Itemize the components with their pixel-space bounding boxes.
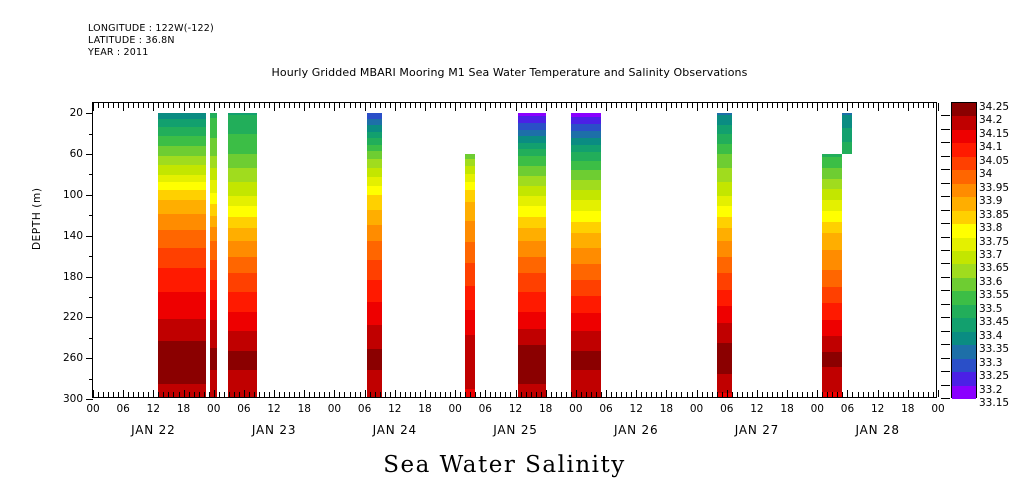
x-minor-tick [133, 392, 134, 397]
y-minor-tick [89, 256, 94, 257]
x-tick-label: 18 [177, 403, 190, 415]
colorbar-tick-label: 33.95 [979, 182, 1009, 194]
x-tick-label: 18 [660, 403, 673, 415]
x-tick-top [616, 103, 617, 108]
x-tick-top [370, 103, 371, 108]
x-minor-tick [928, 392, 929, 397]
x-tick-top [586, 103, 587, 108]
x-tick-top [883, 103, 884, 108]
x-tick-top [405, 103, 406, 108]
x-minor-tick [832, 392, 833, 397]
y-tick [86, 113, 93, 114]
colorbar-band [952, 251, 976, 265]
y-tick [86, 277, 93, 278]
x-tick-label: 06 [237, 403, 250, 415]
x-tick-top [269, 103, 270, 108]
col-jan24-a [367, 113, 382, 397]
x-tick-top [737, 103, 738, 108]
colorbar-tick-label: 33.85 [979, 209, 1009, 221]
x-tick-top [516, 103, 517, 111]
x-minor-tick [842, 392, 843, 397]
x-tick-top [712, 103, 713, 108]
y-axis-title: DEPTH (m) [31, 187, 43, 250]
x-tick-top [526, 103, 527, 108]
x-tick-top [656, 103, 657, 108]
y-tick-label: 180 [63, 271, 83, 283]
x-minor-tick [234, 392, 235, 397]
x-tick-top [480, 103, 481, 108]
x-tick-label: 00 [448, 403, 461, 415]
x-tick [908, 390, 909, 398]
x-minor-tick [556, 392, 557, 397]
x-tick-top [279, 103, 280, 108]
x-minor-tick [199, 392, 200, 397]
colorbar-tick [941, 317, 950, 318]
x-tick-top [148, 103, 149, 108]
x-tick-top [757, 103, 758, 111]
year-text: YEAR : 2011 [88, 47, 149, 58]
x-minor-tick [128, 392, 129, 397]
x-minor-tick [717, 392, 718, 397]
x-minor-tick [681, 392, 682, 397]
x-minor-tick [807, 392, 808, 397]
y-minor-tick [89, 134, 94, 135]
y-tick [86, 195, 93, 196]
x-tick-top [189, 103, 190, 108]
x-tick-top [425, 103, 426, 111]
x-tick-top [626, 103, 627, 108]
x-tick [817, 390, 818, 398]
y-minor-tick [89, 338, 94, 339]
x-minor-tick [194, 392, 195, 397]
x-tick [123, 390, 124, 398]
x-minor-tick [219, 392, 220, 397]
col-jan23-a [228, 113, 257, 397]
y-tick [86, 399, 93, 400]
plot-frame: 2060100140180220260300 00061218000612180… [92, 102, 937, 398]
x-minor-tick [450, 392, 451, 397]
x-tick [697, 390, 698, 398]
x-tick-top [209, 103, 210, 108]
x-minor-tick [641, 392, 642, 397]
x-tick-top [913, 103, 914, 108]
colorbar-tick-label: 34.25 [979, 101, 1009, 113]
x-tick-top [264, 103, 265, 108]
x-minor-tick [430, 392, 431, 397]
x-tick [847, 390, 848, 398]
x-minor-tick [490, 392, 491, 397]
x-tick-top [475, 103, 476, 108]
x-minor-tick [143, 392, 144, 397]
colorbar-tick-label: 33.3 [979, 357, 1002, 369]
x-day-label: JAN 25 [493, 423, 537, 437]
colorbar-tick [941, 210, 950, 211]
x-tick-top [294, 103, 295, 108]
x-minor-tick [812, 392, 813, 397]
x-tick-top [697, 103, 698, 111]
colorbar-band [952, 291, 976, 305]
x-minor-tick [324, 392, 325, 397]
x-tick-top [767, 103, 768, 108]
x-tick-top [395, 103, 396, 111]
x-tick-top [827, 103, 828, 108]
colorbar-band [952, 157, 976, 171]
x-tick [365, 390, 366, 398]
x-tick-top [551, 103, 552, 108]
x-tick-top [510, 103, 511, 108]
x-minor-tick [631, 392, 632, 397]
x-minor-tick [616, 392, 617, 397]
x-minor-tick [903, 392, 904, 397]
x-tick-top [596, 103, 597, 108]
x-minor-tick [621, 392, 622, 397]
x-tick-top [692, 103, 693, 108]
x-minor-tick [495, 392, 496, 397]
x-minor-tick [440, 392, 441, 397]
colorbar-tick-label: 33.8 [979, 222, 1002, 234]
x-minor-tick [224, 392, 225, 397]
col-jan25-a [518, 113, 546, 397]
x-tick-top [355, 103, 356, 108]
x-tick-top [858, 103, 859, 108]
x-minor-tick [742, 392, 743, 397]
colorbar-tick-label: 33.55 [979, 289, 1009, 301]
x-tick-top [430, 103, 431, 108]
x-tick-top [249, 103, 250, 108]
colorbar-tick-label: 34.15 [979, 128, 1009, 140]
colorbar-tick [941, 250, 950, 251]
x-minor-tick [168, 392, 169, 397]
x-tick-top [888, 103, 889, 108]
chart-title: Hourly Gridded MBARI Mooring M1 Sea Wate… [0, 66, 1009, 79]
x-tick-top [234, 103, 235, 108]
x-minor-tick [209, 392, 210, 397]
col-jan27-b [842, 113, 852, 154]
x-tick [274, 390, 275, 398]
y-tick-label: 140 [63, 230, 83, 242]
x-tick-top [390, 103, 391, 108]
x-tick-top [289, 103, 290, 108]
x-tick-top [707, 103, 708, 108]
x-minor-tick [797, 392, 798, 397]
x-tick-top [324, 103, 325, 108]
x-tick-top [676, 103, 677, 108]
x-tick-top [455, 103, 456, 111]
x-tick-top [742, 103, 743, 108]
colorbar-tick [941, 169, 950, 170]
x-tick-label: 06 [116, 403, 129, 415]
x-tick [184, 390, 185, 398]
colorbar-tick-label: 33.9 [979, 195, 1002, 207]
colorbar-tick [941, 142, 950, 143]
x-minor-tick [747, 392, 748, 397]
x-tick-top [807, 103, 808, 108]
x-tick-top [546, 103, 547, 111]
x-minor-tick [561, 392, 562, 397]
x-day-label: JAN 23 [252, 423, 296, 437]
x-minor-tick [918, 392, 919, 397]
x-tick-top [812, 103, 813, 108]
x-tick-top [727, 103, 728, 111]
x-tick-top [903, 103, 904, 108]
x-minor-tick [883, 392, 884, 397]
x-tick-top [420, 103, 421, 108]
x-minor-tick [264, 392, 265, 397]
x-tick-top [138, 103, 139, 108]
x-minor-tick [309, 392, 310, 397]
x-tick-top [108, 103, 109, 108]
colorbar-tick [941, 398, 950, 399]
x-tick-top [334, 103, 335, 111]
x-tick-label: 18 [780, 403, 793, 415]
x-tick-label: 00 [569, 403, 582, 415]
x-minor-tick [893, 392, 894, 397]
colorbar-tick [941, 237, 950, 238]
x-tick-top [873, 103, 874, 108]
x-tick-top [184, 103, 185, 111]
x-minor-tick [259, 392, 260, 397]
colorbar-band [952, 211, 976, 225]
colorbar-tick [941, 304, 950, 305]
x-minor-tick [279, 392, 280, 397]
x-tick-top [621, 103, 622, 108]
colorbar-tick [941, 331, 950, 332]
x-minor-tick [405, 392, 406, 397]
x-tick-top [274, 103, 275, 111]
x-minor-tick [661, 392, 662, 397]
x-tick-top [133, 103, 134, 108]
x-minor-tick [118, 392, 119, 397]
x-minor-tick [822, 392, 823, 397]
x-minor-tick [827, 392, 828, 397]
x-tick [546, 390, 547, 398]
y-tick-label: 300 [63, 393, 83, 405]
x-tick-top [339, 103, 340, 108]
x-tick-top [521, 103, 522, 108]
x-tick-top [752, 103, 753, 108]
x-tick-top [224, 103, 225, 108]
x-day-label: JAN 24 [373, 423, 417, 437]
colorbar-band [952, 103, 976, 117]
x-tick-top [868, 103, 869, 108]
x-tick [93, 390, 94, 398]
x-tick-top [722, 103, 723, 108]
x-tick-top [717, 103, 718, 108]
x-tick [425, 390, 426, 398]
x-tick-label: 12 [509, 403, 522, 415]
x-tick-top [772, 103, 773, 108]
x-tick [334, 390, 335, 398]
colorbar-band [952, 197, 976, 211]
colorbar-tick-label: 33.7 [979, 249, 1002, 261]
x-tick-top [118, 103, 119, 108]
x-tick-label: 12 [147, 403, 160, 415]
x-tick-label: 00 [328, 403, 341, 415]
variable-caption: Sea Water Salinity [0, 452, 1009, 478]
x-tick-top [702, 103, 703, 108]
x-tick-label: 18 [901, 403, 914, 415]
x-minor-tick [344, 392, 345, 397]
x-minor-tick [777, 392, 778, 397]
colorbar-band [952, 130, 976, 144]
x-minor-tick [103, 392, 104, 397]
y-minor-tick [89, 174, 94, 175]
x-tick-top [445, 103, 446, 108]
x-tick-top [832, 103, 833, 108]
x-minor-tick [526, 392, 527, 397]
x-tick-label: 12 [630, 403, 643, 415]
colorbar-tick-label: 34.1 [979, 141, 1002, 153]
col-jan25-b [571, 113, 601, 397]
x-day-label: JAN 26 [614, 423, 658, 437]
colorbar-tick-label: 33.25 [979, 370, 1009, 382]
x-tick-top [400, 103, 401, 108]
colorbar-band [952, 345, 976, 359]
x-minor-tick [355, 392, 356, 397]
x-minor-tick [239, 392, 240, 397]
x-tick-top [485, 103, 486, 111]
x-tick-top [385, 103, 386, 108]
x-tick-top [259, 103, 260, 108]
x-tick [938, 390, 939, 398]
x-tick-top [153, 103, 154, 111]
x-minor-tick [385, 392, 386, 397]
x-minor-tick [400, 392, 401, 397]
x-tick-top [229, 103, 230, 108]
x-tick-top [254, 103, 255, 108]
x-tick-top [158, 103, 159, 108]
x-tick-top [566, 103, 567, 108]
x-tick-top [163, 103, 164, 108]
x-day-label: JAN 22 [131, 423, 175, 437]
y-tick [86, 317, 93, 318]
x-tick-top [837, 103, 838, 108]
x-tick-top [847, 103, 848, 111]
x-tick-top [687, 103, 688, 108]
x-minor-tick [888, 392, 889, 397]
x-tick-label: 12 [267, 403, 280, 415]
colorbar-band [952, 184, 976, 198]
x-tick-top [666, 103, 667, 111]
x-tick-top [787, 103, 788, 111]
x-tick-top [495, 103, 496, 108]
x-tick-top [179, 103, 180, 108]
x-tick-top [581, 103, 582, 108]
colorbar-tick-label: 33.6 [979, 276, 1002, 288]
x-minor-tick [189, 392, 190, 397]
x-tick-top [214, 103, 215, 111]
x-tick-top [822, 103, 823, 108]
x-minor-tick [249, 392, 250, 397]
colorbar-band [952, 359, 976, 373]
x-tick-top [204, 103, 205, 108]
x-tick-label: 06 [841, 403, 854, 415]
x-tick-top [933, 103, 934, 108]
longitude-text: LONGITUDE : 122W(-122) [88, 23, 214, 34]
x-tick [787, 390, 788, 398]
x-minor-tick [410, 392, 411, 397]
y-tick-label: 20 [70, 107, 83, 119]
contour-canvas [93, 103, 936, 397]
y-minor-tick [89, 297, 94, 298]
x-minor-tick [531, 392, 532, 397]
x-tick-top [646, 103, 647, 108]
x-tick-label: 18 [539, 403, 552, 415]
x-minor-tick [108, 392, 109, 397]
x-tick-top [561, 103, 562, 108]
x-minor-tick [863, 392, 864, 397]
x-tick [214, 390, 215, 398]
colorbar-tick [941, 263, 950, 264]
x-minor-tick [692, 392, 693, 397]
x-tick-top [918, 103, 919, 108]
colorbar-tick [941, 183, 950, 184]
x-tick-top [470, 103, 471, 108]
x-minor-tick [752, 392, 753, 397]
x-tick-top [344, 103, 345, 108]
colorbar-band [952, 264, 976, 278]
colorbar-band [952, 238, 976, 252]
x-minor-tick [702, 392, 703, 397]
x-minor-tick [158, 392, 159, 397]
x-tick-top [636, 103, 637, 111]
col-jan26-a [717, 113, 732, 397]
x-tick-label: 00 [811, 403, 824, 415]
x-minor-tick [571, 392, 572, 397]
x-minor-tick [933, 392, 934, 397]
x-tick [395, 390, 396, 398]
x-tick-top [103, 103, 104, 108]
x-tick-top [747, 103, 748, 108]
x-tick-top [500, 103, 501, 108]
x-tick-top [304, 103, 305, 111]
x-tick-label: 00 [931, 403, 944, 415]
x-minor-tick [898, 392, 899, 397]
colorbar-band [952, 116, 976, 130]
x-tick-top [898, 103, 899, 108]
x-tick-top [842, 103, 843, 108]
colorbar-tick-label: 33.2 [979, 384, 1002, 396]
x-tick-top [732, 103, 733, 108]
y-minor-tick [89, 215, 94, 216]
x-tick-top [380, 103, 381, 108]
colorbar-tick-label: 34.05 [979, 155, 1009, 167]
colorbar-tick [941, 196, 950, 197]
x-tick-top [199, 103, 200, 108]
colorbar-band [952, 278, 976, 292]
x-minor-tick [294, 392, 295, 397]
x-tick-top [601, 103, 602, 108]
latitude-text: LATITUDE : 36.8N [88, 35, 175, 46]
x-minor-tick [420, 392, 421, 397]
x-minor-tick [179, 392, 180, 397]
colorbar-tick-label: 33.15 [979, 397, 1009, 409]
x-minor-tick [586, 392, 587, 397]
x-minor-tick [98, 392, 99, 397]
x-minor-tick [314, 392, 315, 397]
x-tick [576, 390, 577, 398]
x-minor-tick [475, 392, 476, 397]
x-minor-tick [254, 392, 255, 397]
x-tick [727, 390, 728, 398]
x-minor-tick [350, 392, 351, 397]
x-tick-top [113, 103, 114, 108]
x-minor-tick [460, 392, 461, 397]
colorbar-tick [941, 156, 950, 157]
colorbar-tick [941, 223, 950, 224]
x-tick-top [143, 103, 144, 108]
colorbar-tick [941, 358, 950, 359]
